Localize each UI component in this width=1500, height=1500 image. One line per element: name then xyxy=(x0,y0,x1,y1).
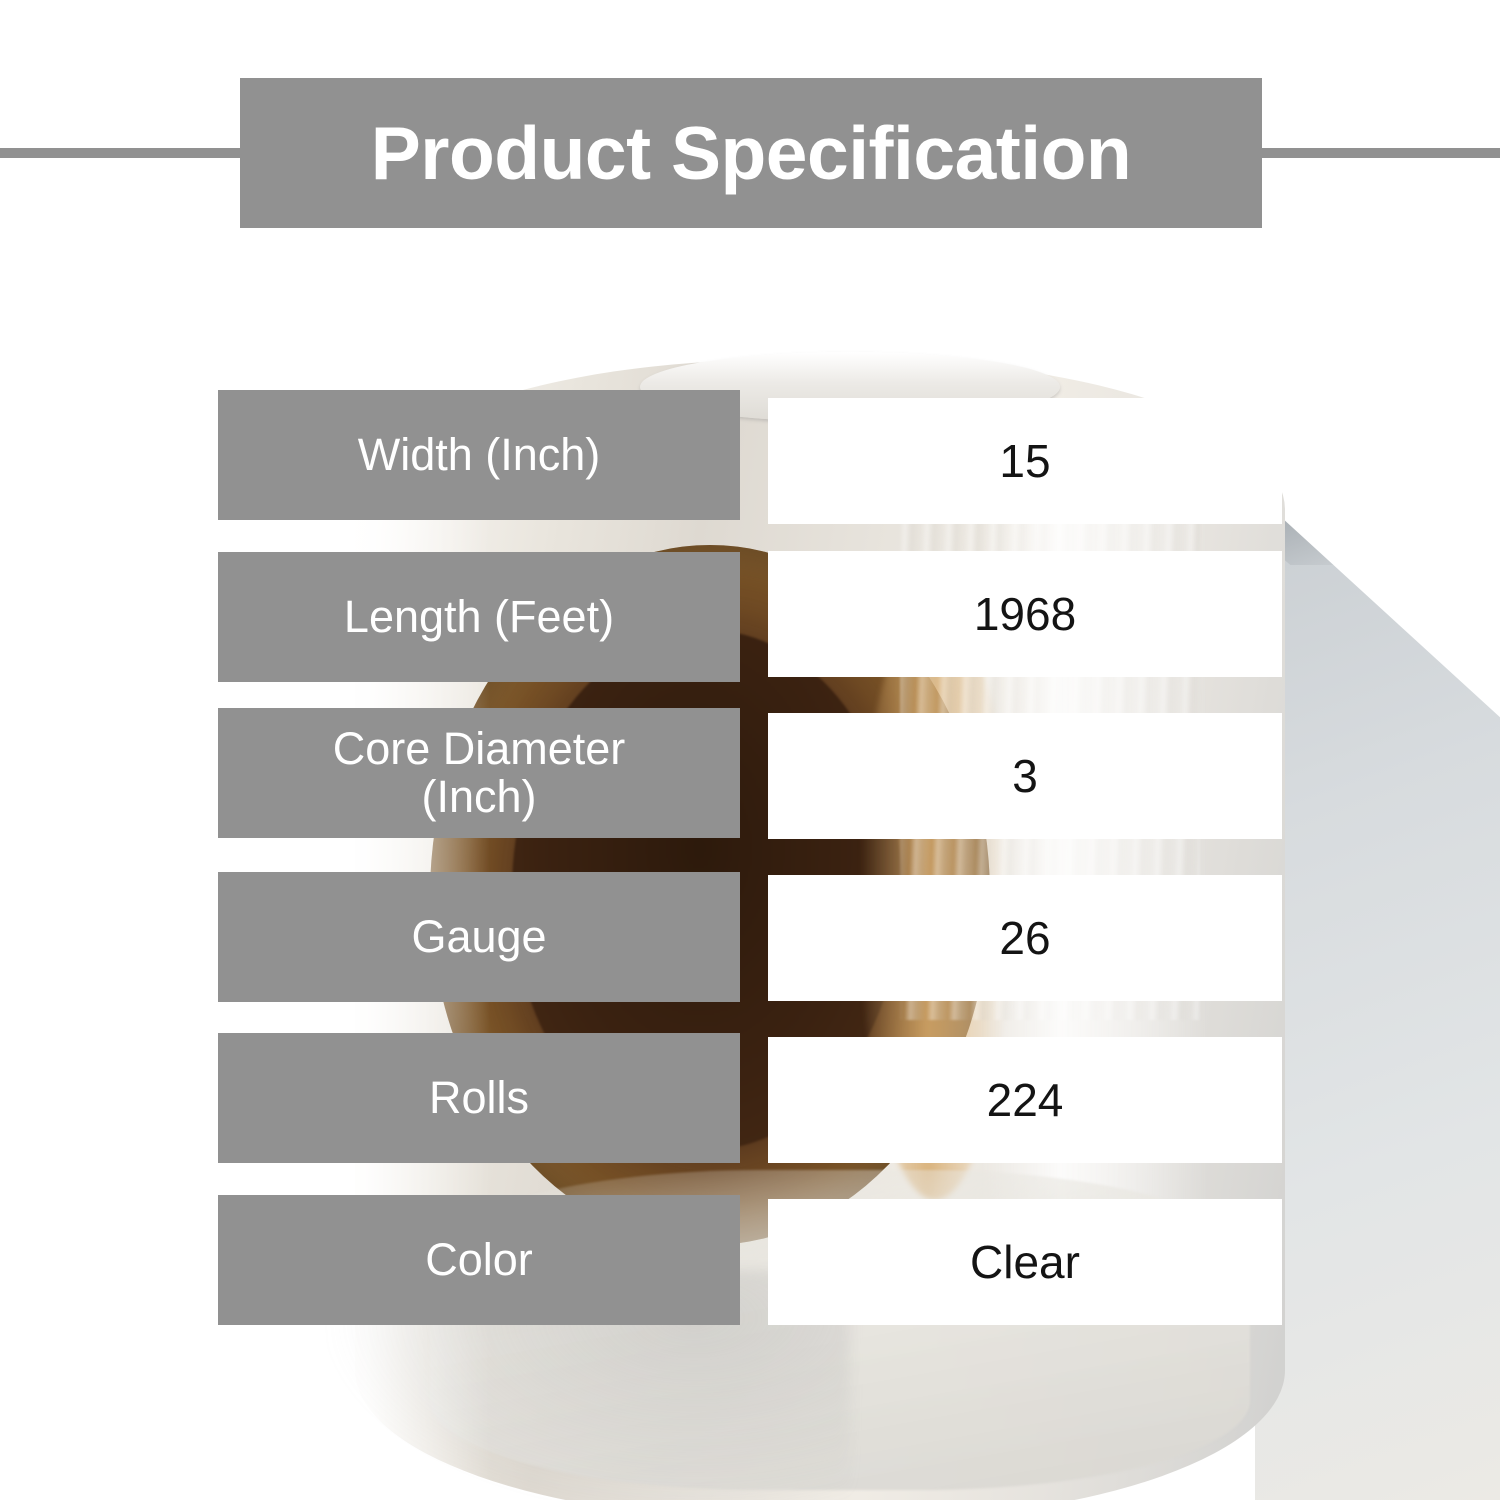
spec-value-core-diameter: 3 xyxy=(768,713,1282,839)
spec-value-text: 3 xyxy=(1012,752,1038,800)
spec-label-text: Rolls xyxy=(429,1074,529,1122)
spec-label-color: Color xyxy=(218,1195,740,1325)
spec-label-text: Gauge xyxy=(411,913,546,961)
spec-label-length: Length (Feet) xyxy=(218,552,740,682)
spec-value-text: 224 xyxy=(987,1076,1064,1124)
spec-value-text: 1968 xyxy=(974,590,1076,638)
spec-label-text: Width (Inch) xyxy=(358,431,601,479)
spec-value-color: Clear xyxy=(768,1199,1282,1325)
spec-label-text: Color xyxy=(425,1236,533,1284)
spec-value-gauge: 26 xyxy=(768,875,1282,1001)
spec-label-width: Width (Inch) xyxy=(218,390,740,520)
spec-table: Width (Inch) 15 Length (Feet) 1968 Core … xyxy=(0,0,1500,1500)
spec-value-rolls: 224 xyxy=(768,1037,1282,1163)
spec-label-core-diameter: Core Diameter (Inch) xyxy=(218,708,740,838)
spec-value-text: 15 xyxy=(999,437,1050,485)
spec-value-length: 1968 xyxy=(768,551,1282,677)
spec-value-text: Clear xyxy=(970,1238,1080,1286)
spec-label-rolls: Rolls xyxy=(218,1033,740,1163)
spec-value-width: 15 xyxy=(768,398,1282,524)
spec-value-text: 26 xyxy=(999,914,1050,962)
spec-label-text: Core Diameter (Inch) xyxy=(333,725,626,820)
product-specification-infographic: Product Specification Width (Inch) 15 Le… xyxy=(0,0,1500,1500)
spec-label-text: Length (Feet) xyxy=(344,593,614,641)
spec-label-gauge: Gauge xyxy=(218,872,740,1002)
